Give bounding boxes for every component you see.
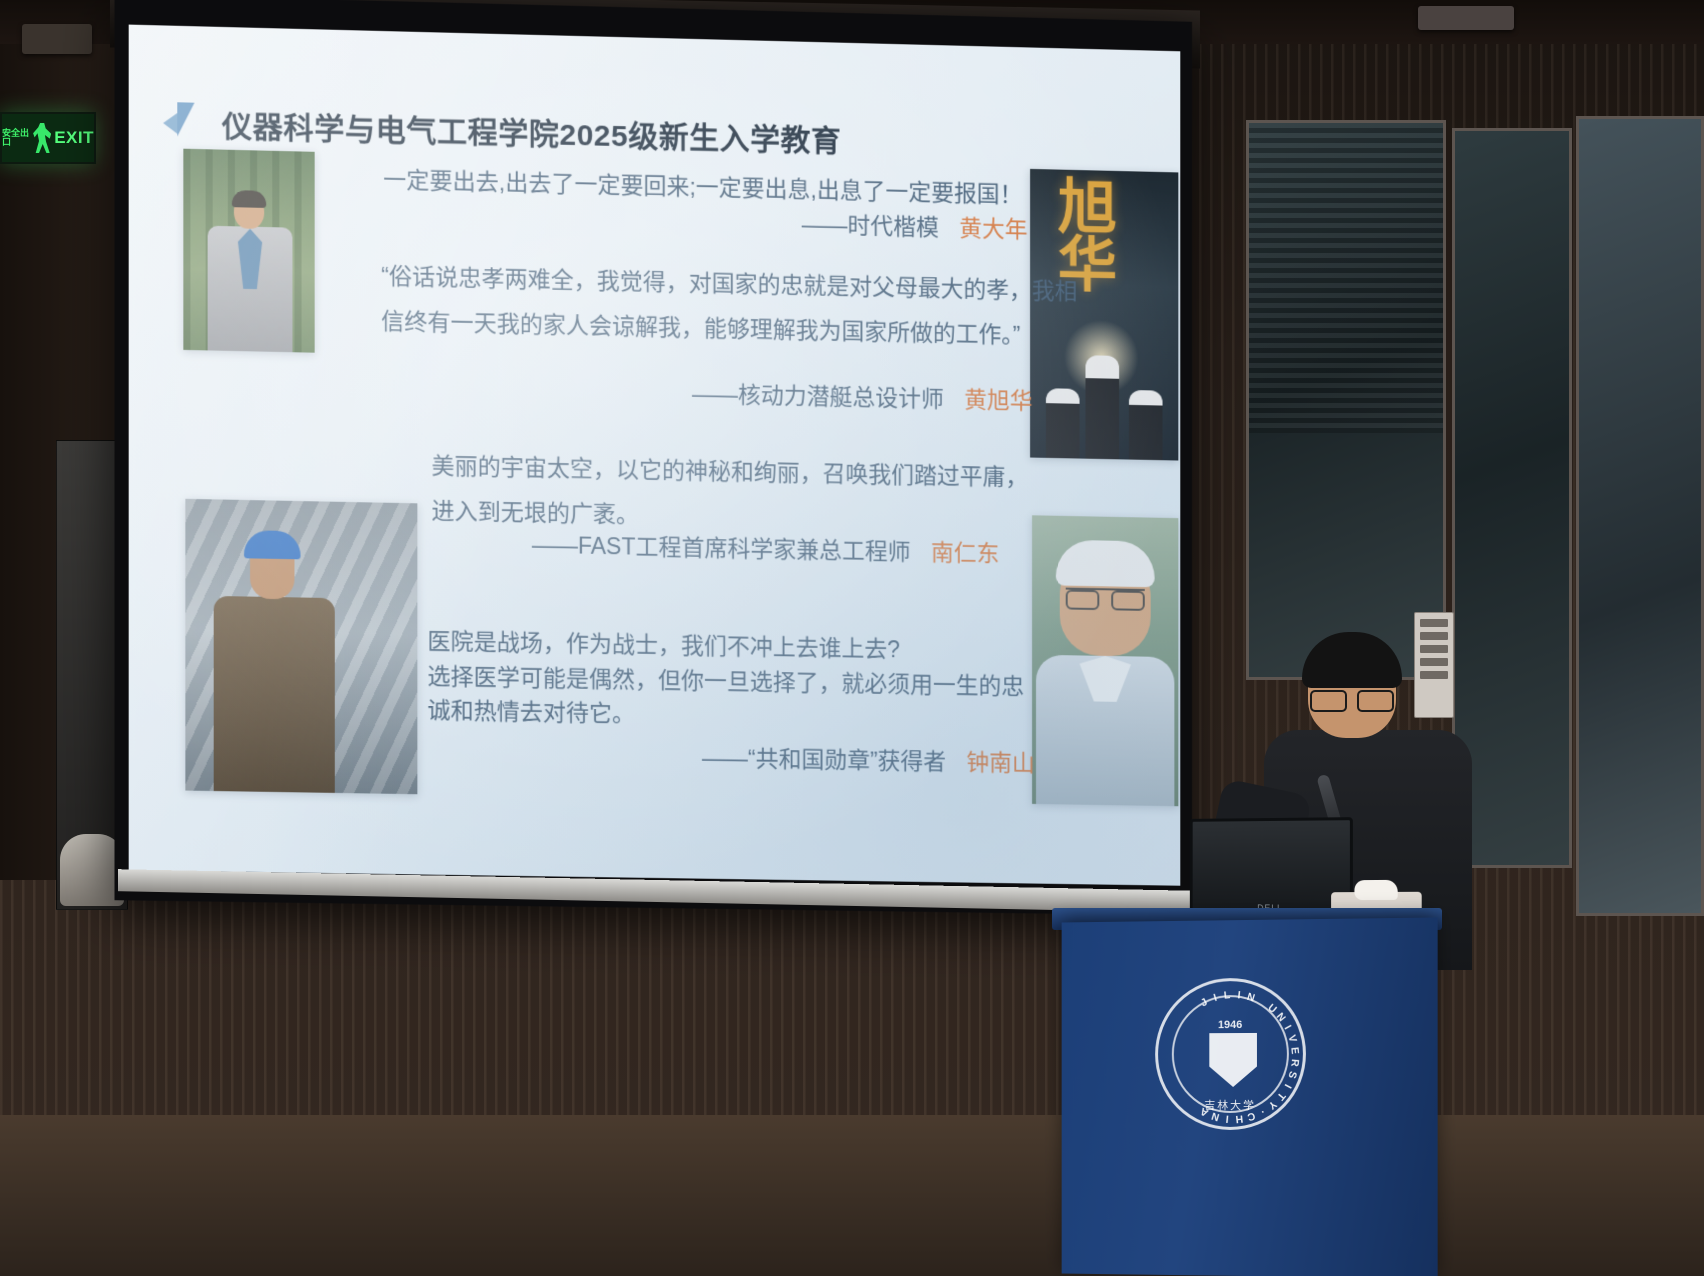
projection-screen-surface: 仪器科学与电气工程学院2025级新生入学教育 一定要出去,出去了一定要回来;一定…	[129, 25, 1181, 886]
projection-screen: 仪器科学与电气工程学院2025级新生入学教育 一定要出去,出去了一定要回来;一定…	[114, 0, 1192, 916]
arrow-mark-icon	[163, 102, 208, 143]
exit-sign: 安全出口 EXIT	[0, 112, 96, 164]
seal-cn-label: 吉林大学	[1158, 1097, 1303, 1113]
attribution-huang-danian: ——时代楷模 黄大年	[802, 205, 1028, 244]
attribution-nan-rendong-prefix: ——FAST工程首席科学家兼总工程师	[532, 532, 911, 565]
quote-huang-danian-line-1: 一定要出去,出去了一定要回来;一定要出息,出息了一定要报国！	[383, 161, 1022, 213]
podium: JILIN UNIVERSITY·CHINA 1946 吉林大学	[1062, 917, 1438, 1276]
monitor[interactable]: DELL	[1190, 817, 1353, 921]
running-person-icon	[33, 123, 51, 153]
ceiling-light-fixture-right	[1418, 6, 1514, 30]
slide-title: 仪器科学与电气工程学院2025级新生入学教育	[222, 101, 841, 160]
quote-zhong-nanshan: 医院是战场，作为战士，我们不冲上去谁上去? 选择医学可能是偶然，但你一旦选择了，…	[427, 624, 1024, 738]
attribution-huang-xuhua-prefix: ——核动力潜艇总设计师	[692, 381, 944, 412]
window-right	[1576, 116, 1704, 916]
glasses-icon	[1310, 690, 1394, 708]
presenter-hair	[1302, 632, 1402, 688]
photo-nan-rendong	[185, 499, 417, 794]
floor	[0, 1115, 1704, 1276]
attribution-huang-danian-prefix: ——时代楷模	[802, 211, 939, 240]
window-left	[1246, 120, 1446, 680]
attribution-huang-xuhua-name: 黄旭华	[964, 386, 1032, 413]
seal-year: 1946	[1158, 1019, 1303, 1032]
switch-1[interactable]	[1420, 619, 1448, 627]
attribution-huang-danian-name: 黄大年	[959, 215, 1027, 242]
exit-sign-label: EXIT	[54, 128, 94, 148]
attribution-nan-rendong-name: 南仁东	[931, 539, 999, 566]
attribution-huang-xuhua: ——核动力潜艇总设计师 黄旭华	[692, 375, 1032, 416]
photo-zhong-nanshan	[1032, 515, 1178, 806]
photo-huang-danian	[183, 149, 314, 353]
quote-huang-xuhua: “俗话说忠孝两难全，我觉得，对国家的忠就是对父母最大的孝，我相 信终有一天我的家…	[381, 254, 1077, 359]
exit-sign-cn-label: 安全出口	[2, 129, 30, 147]
window-blind	[1249, 123, 1443, 433]
attribution-zhong-nanshan-name: 钟南山	[966, 749, 1034, 776]
ceiling-light-fixture	[22, 24, 92, 54]
attribution-zhong-nanshan: ——“共和国勋章”获得者 钟南山	[702, 739, 1035, 778]
presentation-slide: 仪器科学与电气工程学院2025级新生入学教育 一定要出去,出去了一定要回来;一定…	[129, 25, 1181, 886]
attribution-zhong-nanshan-prefix: ——“共和国勋章”获得者	[702, 745, 946, 775]
jilin-university-seal: JILIN UNIVERSITY·CHINA 1946 吉林大学	[1155, 977, 1306, 1130]
